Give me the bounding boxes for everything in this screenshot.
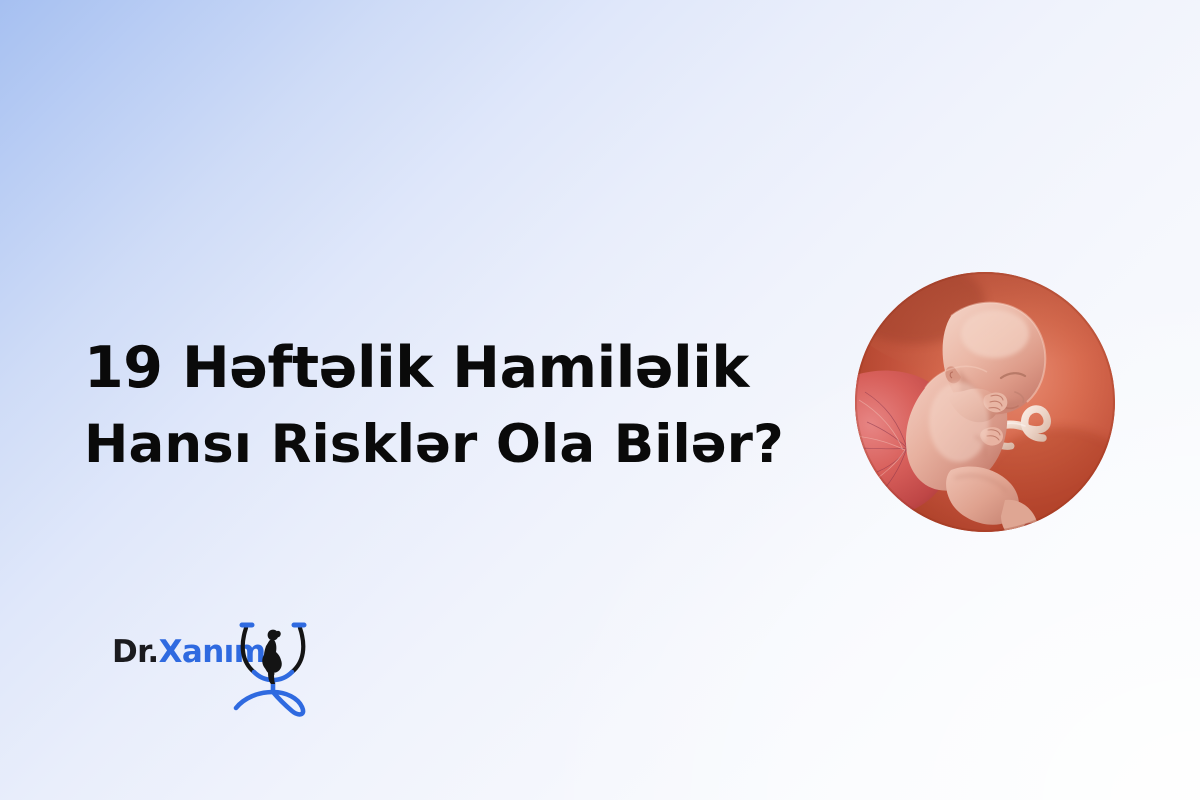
headline-block: 19 Həftəlik Hamiləlik Hansı Risklər Ola … bbox=[84, 330, 844, 484]
stethoscope-pregnant-woman-icon-svg bbox=[228, 612, 320, 717]
logo-text-dr: Dr. bbox=[112, 634, 159, 670]
fetus-illustration-svg bbox=[855, 272, 1115, 532]
fetus-illustration bbox=[855, 272, 1115, 532]
pregnant-woman-silhouette bbox=[262, 630, 282, 684]
headline-line-2: Hansı Risklər Ola Bilər? bbox=[84, 406, 844, 484]
logo[interactable]: Dr.Xanım bbox=[110, 612, 320, 717]
headline-line-1: 19 Həftəlik Hamiləlik bbox=[84, 330, 844, 406]
stethoscope-pregnant-woman-icon bbox=[228, 612, 320, 717]
banner-root: 19 Həftəlik Hamiləlik Hansı Risklər Ola … bbox=[0, 0, 1200, 800]
